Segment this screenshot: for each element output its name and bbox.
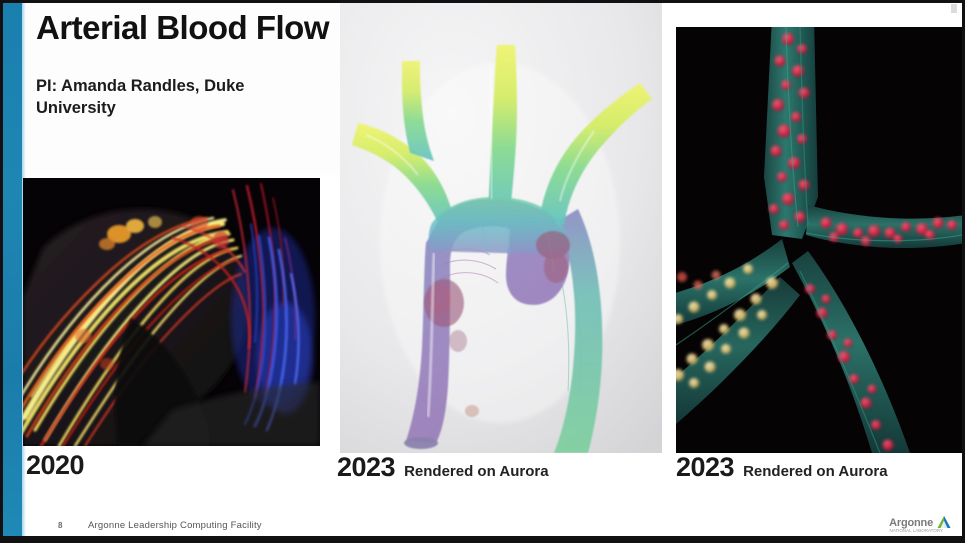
slide: Arterial Blood Flow PI: Amanda Randles, … [0, 0, 965, 543]
frame-bottom-border [0, 536, 965, 543]
caption-2023-aorta: 2023 Rendered on Aurora [337, 452, 549, 483]
blood-cells-render [676, 27, 962, 453]
caption-2020: 2020 [26, 450, 93, 481]
image-panel-aorta [340, 3, 662, 453]
page-title: Arterial Blood Flow [36, 9, 329, 47]
image-panel-cells [676, 27, 962, 453]
argonne-wordmark: Argonne [889, 517, 933, 529]
caption-note: Rendered on Aurora [404, 463, 548, 480]
pi-subtitle: PI: Amanda Randles, Duke University [36, 75, 316, 120]
caption-year: 2020 [26, 450, 84, 481]
slide-number: 8 [58, 521, 62, 530]
page-corner-mark [951, 4, 957, 13]
left-accent-bar [3, 3, 22, 536]
caption-note: Rendered on Aurora [743, 463, 887, 480]
image-panel-2020 [23, 178, 320, 446]
caption-2023-cells: 2023 Rendered on Aurora [676, 452, 888, 483]
aorta-render [340, 3, 662, 453]
caption-year: 2023 [676, 452, 734, 483]
arterial-streamlines-render [23, 178, 320, 446]
caption-year: 2023 [337, 452, 395, 483]
argonne-lab-subtitle: NATIONAL LABORATORY [889, 528, 943, 533]
footer-organization: Argonne Leadership Computing Facility [88, 520, 262, 531]
